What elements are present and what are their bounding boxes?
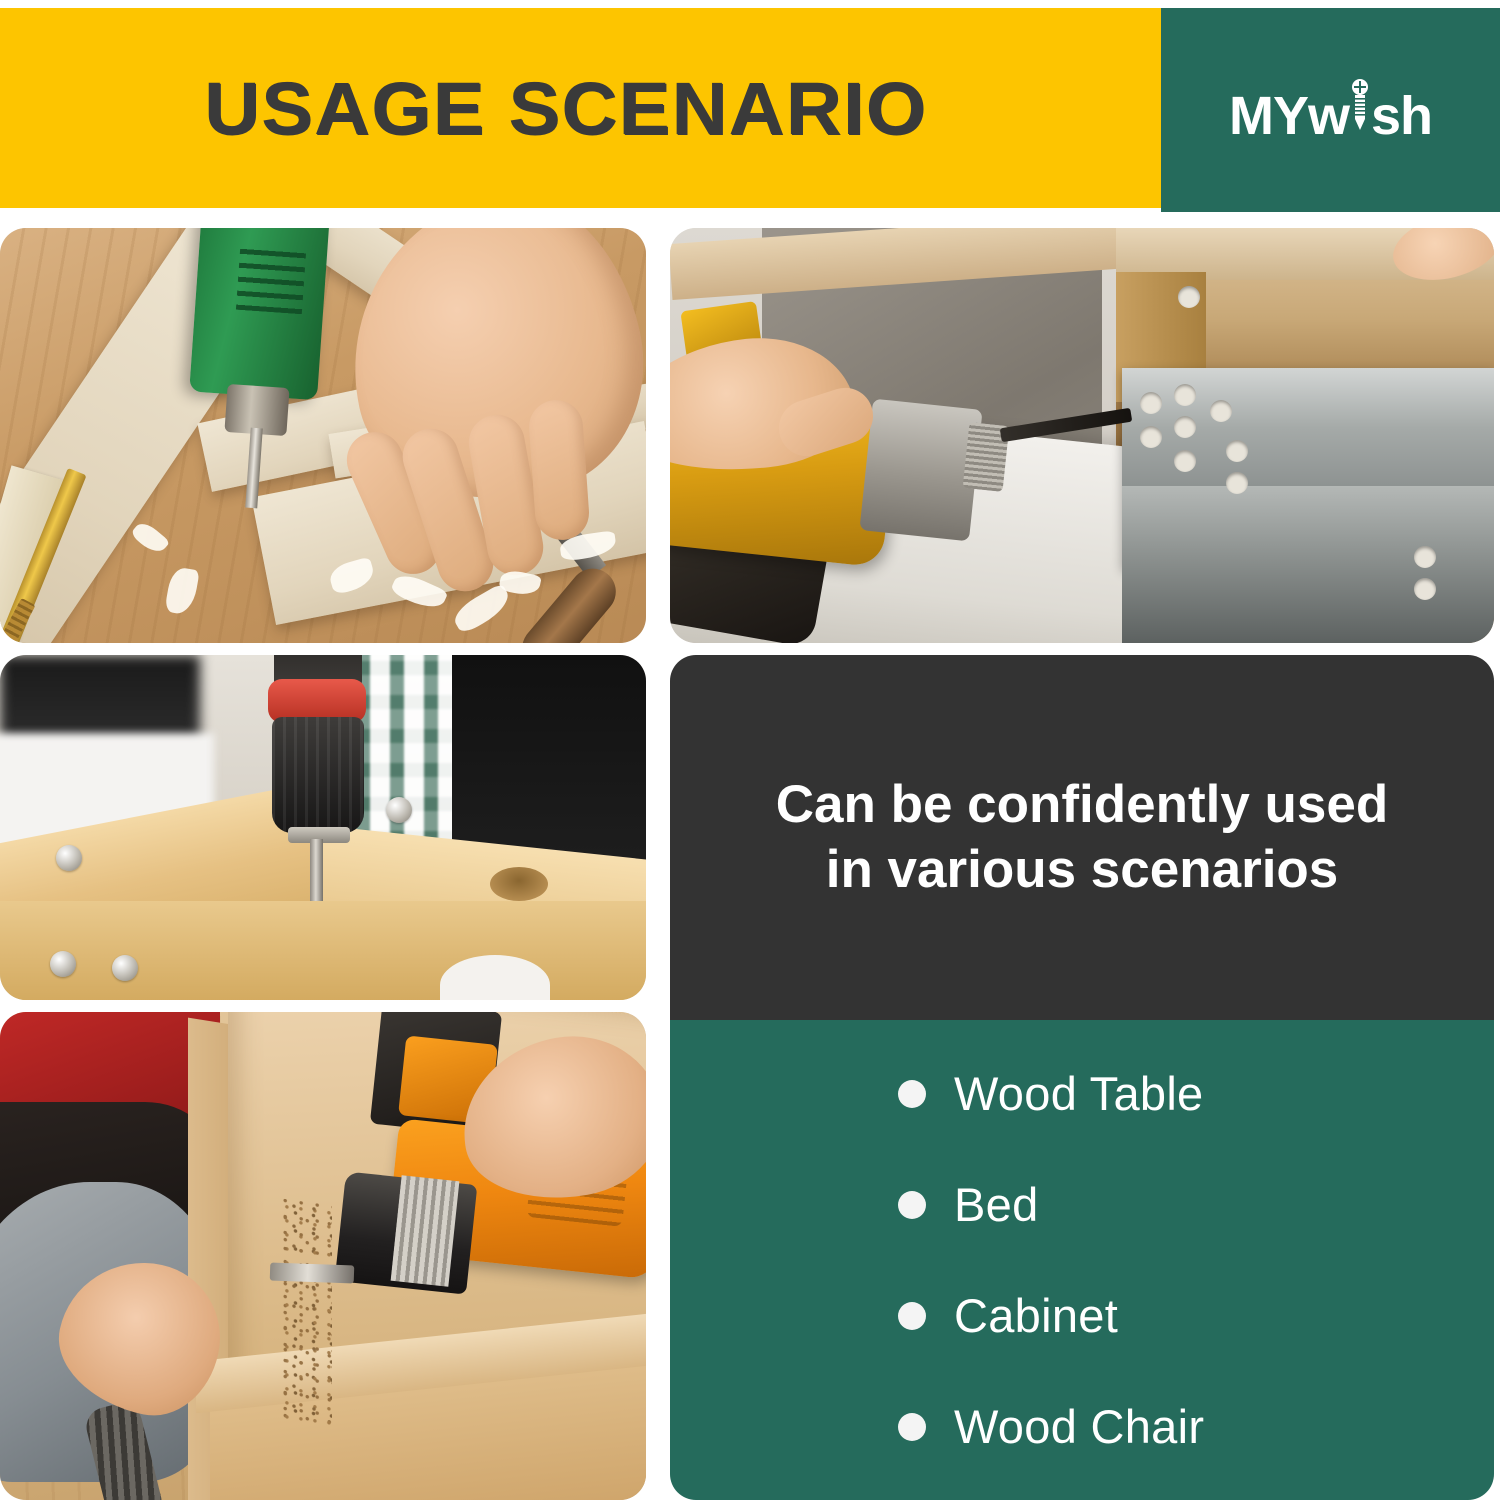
callout-headline-line2: in various scenarios xyxy=(776,838,1389,903)
list-item: Wood Chair xyxy=(898,1399,1494,1454)
scenario-label: Cabinet xyxy=(954,1288,1118,1343)
bullet-dot-icon xyxy=(898,1191,926,1219)
list-item: Bed xyxy=(898,1177,1494,1232)
list-item: Cabinet xyxy=(898,1288,1494,1343)
callout-headline-line1: Can be confidently used xyxy=(776,773,1389,838)
page-title: USAGE SCENARIO xyxy=(204,66,927,151)
photo-drill-drawer-box xyxy=(0,1012,646,1500)
photo-scene-1 xyxy=(0,228,646,643)
brand-logo-prefix: MY xyxy=(1229,89,1308,143)
photo-scene-2 xyxy=(670,228,1494,643)
brand-logo: MY w sh xyxy=(1229,78,1432,143)
photo-scene-4 xyxy=(0,1012,646,1500)
bullet-dot-icon xyxy=(898,1080,926,1108)
bullet-dot-icon xyxy=(898,1302,926,1330)
scenario-label: Bed xyxy=(954,1177,1039,1232)
brand-logo-mid: w xyxy=(1308,89,1349,143)
callout-headline: Can be confidently used in various scena… xyxy=(746,773,1419,902)
brand-banner: MY w sh xyxy=(1161,8,1500,212)
scenario-label: Wood Chair xyxy=(954,1399,1204,1454)
photo-scene-3 xyxy=(0,655,646,1000)
content-grid: Can be confidently used in various scena… xyxy=(0,228,1500,1500)
brand-logo-suffix: sh xyxy=(1371,89,1432,143)
callout-panel: Can be confidently used in various scena… xyxy=(670,655,1494,1020)
scenarios-panel: Wood Table Bed Cabinet Wood Chair xyxy=(670,1020,1494,1500)
page-header: USAGE SCENARIO MY w sh xyxy=(0,8,1500,212)
bullet-dot-icon xyxy=(898,1413,926,1441)
photo-drill-wood-frame xyxy=(0,228,646,643)
scenario-label: Wood Table xyxy=(954,1066,1204,1121)
photo-impact-driver-drawer-slide xyxy=(670,228,1494,643)
screw-icon xyxy=(1350,78,1370,134)
title-banner: USAGE SCENARIO xyxy=(0,8,1161,208)
list-item: Wood Table xyxy=(898,1066,1494,1121)
photo-drill-beech-joint xyxy=(0,655,646,1000)
